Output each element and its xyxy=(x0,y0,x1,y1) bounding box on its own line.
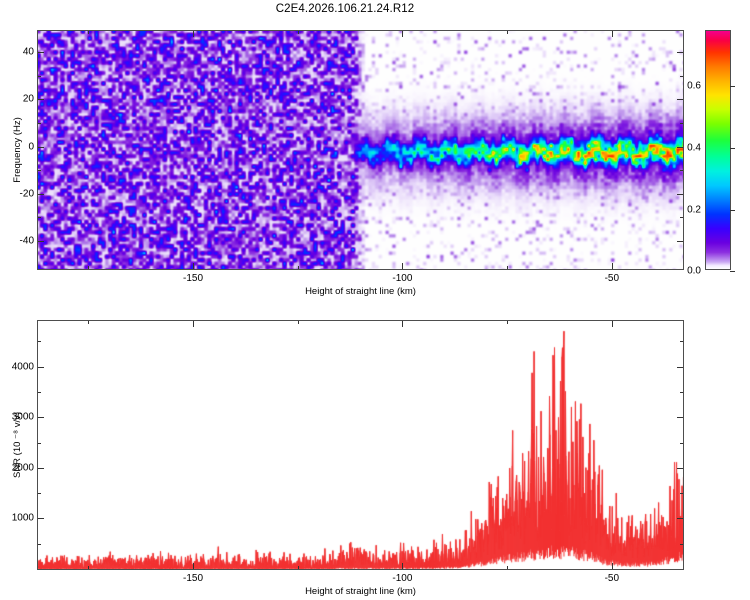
y-tick-right xyxy=(677,468,683,469)
colorbar-gradient: 0.00.20.40.6 xyxy=(705,30,731,270)
y-tick-right xyxy=(677,147,683,148)
x-minor-tick-top xyxy=(298,321,299,324)
x-tick-label: -50 xyxy=(605,573,619,584)
x-minor-tick-top xyxy=(88,321,89,324)
y-minor-tick xyxy=(38,544,41,545)
x-minor-tick xyxy=(88,266,89,269)
snr-plot-area xyxy=(38,321,683,569)
y-minor-tick xyxy=(38,217,41,218)
y-tick-right xyxy=(677,241,683,242)
y-tick-right xyxy=(677,367,683,368)
y-tick-label: 20 xyxy=(23,94,34,105)
x-tick-top xyxy=(612,31,613,37)
x-tick-label: -100 xyxy=(392,573,412,584)
x-tick xyxy=(193,563,194,569)
y-minor-tick-right xyxy=(680,76,683,77)
y-tick-right xyxy=(677,194,683,195)
spectrogram-panel: 40200-20-40-150-100-50 Height of straigh… xyxy=(37,30,684,270)
x-tick-label: -150 xyxy=(183,273,203,284)
spectrogram-image xyxy=(38,31,683,269)
y-minor-tick-right xyxy=(680,493,683,494)
y-minor-tick xyxy=(38,443,41,444)
y-tick-label: -40 xyxy=(20,235,34,246)
y-minor-tick-right xyxy=(680,217,683,218)
y-tick-right xyxy=(677,417,683,418)
y-tick xyxy=(38,99,44,100)
y-minor-tick-right xyxy=(680,544,683,545)
colorbar-tick-label: 0.0 xyxy=(687,266,701,277)
y-minor-tick-right xyxy=(680,392,683,393)
y-tick-right xyxy=(677,52,683,53)
x-minor-tick xyxy=(298,566,299,569)
x-tick xyxy=(612,563,613,569)
x-tick-top xyxy=(402,321,403,327)
y-minor-tick-right xyxy=(680,443,683,444)
x-tick xyxy=(402,263,403,269)
snr-panel: 1000200030004000-150-100-50 Height of st… xyxy=(37,320,684,570)
x-minor-tick xyxy=(88,566,89,569)
y-minor-tick xyxy=(38,392,41,393)
y-tick xyxy=(38,468,44,469)
x-minor-tick-top xyxy=(507,31,508,34)
x-tick-top xyxy=(193,321,194,327)
x-minor-tick xyxy=(507,266,508,269)
y-minor-tick-right xyxy=(680,341,683,342)
x-minor-tick xyxy=(507,566,508,569)
spectrogram-yaxis-title: Frequency (Hz) xyxy=(12,117,23,182)
y-tick xyxy=(38,518,44,519)
y-tick-right xyxy=(677,99,683,100)
snr-trace xyxy=(38,321,683,569)
y-minor-tick xyxy=(38,76,41,77)
snr-yaxis-title: SNR (10 ⁻⁸ v/v) xyxy=(12,412,23,478)
x-tick xyxy=(612,263,613,269)
spectrogram-xaxis-title: Height of straight line (km) xyxy=(305,286,416,297)
colorbar: 0.00.20.40.6 Normalized spectral amplitu… xyxy=(705,30,731,270)
x-tick-label: -150 xyxy=(183,573,203,584)
x-tick-top xyxy=(402,31,403,37)
y-tick xyxy=(38,367,44,368)
y-tick-label: 4000 xyxy=(12,361,34,372)
x-tick xyxy=(193,263,194,269)
figure-canvas: C2E4.2026.106.21.24.R12 40200-20-40-150-… xyxy=(0,0,750,600)
spectrogram-plot-area xyxy=(38,31,683,269)
y-tick-label: 1000 xyxy=(12,513,34,524)
page-title: C2E4.2026.106.21.24.R12 xyxy=(0,3,690,15)
colorbar-tick xyxy=(730,148,735,149)
x-minor-tick xyxy=(298,266,299,269)
x-minor-tick-top xyxy=(298,31,299,34)
y-tick xyxy=(38,52,44,53)
x-tick-label: -50 xyxy=(605,273,619,284)
y-minor-tick-right xyxy=(680,170,683,171)
colorbar-tick xyxy=(730,210,735,211)
x-tick-label: -100 xyxy=(392,273,412,284)
snr-xaxis-title: Height of straight line (km) xyxy=(305,586,416,597)
x-minor-tick-top xyxy=(507,321,508,324)
y-minor-tick xyxy=(38,493,41,494)
x-minor-tick-top xyxy=(88,31,89,34)
y-tick-label: 0 xyxy=(28,141,34,152)
y-tick xyxy=(38,417,44,418)
x-tick-top xyxy=(612,321,613,327)
y-minor-tick xyxy=(38,341,41,342)
x-tick-top xyxy=(193,31,194,37)
y-tick-label: -20 xyxy=(20,188,34,199)
y-tick xyxy=(38,241,44,242)
colorbar-tick-label: 0.2 xyxy=(687,204,701,215)
x-tick xyxy=(402,563,403,569)
y-tick-label: 40 xyxy=(23,47,34,58)
y-minor-tick-right xyxy=(680,123,683,124)
colorbar-tick-label: 0.4 xyxy=(687,142,701,153)
colorbar-tick-label: 0.6 xyxy=(687,81,701,92)
y-minor-tick xyxy=(38,123,41,124)
colorbar-tick xyxy=(730,86,735,87)
y-tick-right xyxy=(677,518,683,519)
y-minor-tick xyxy=(38,170,41,171)
y-tick xyxy=(38,194,44,195)
colorbar-tick xyxy=(730,271,735,272)
y-tick xyxy=(38,147,44,148)
